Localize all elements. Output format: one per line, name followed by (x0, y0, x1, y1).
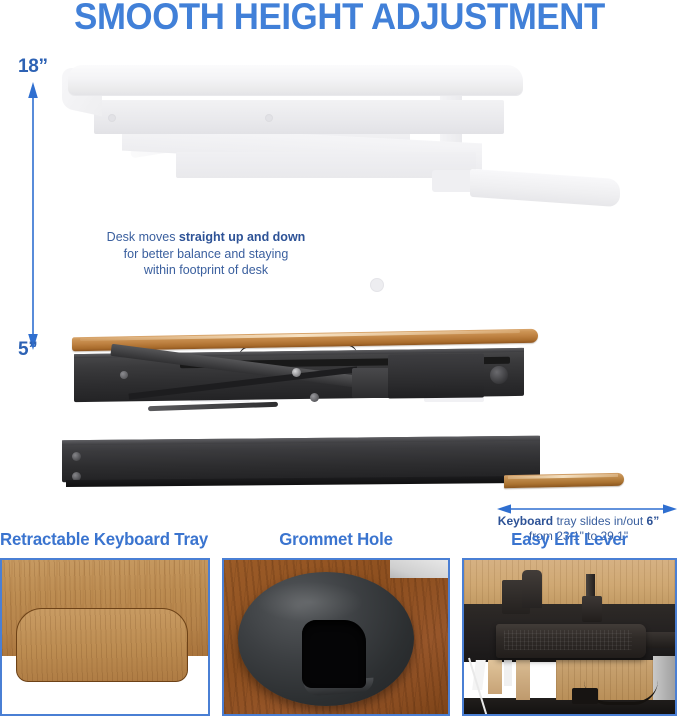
feature-title: Easy Lift Lever (466, 528, 672, 550)
feature-title: Retractable Keyboard Tray (0, 528, 202, 550)
feature-panels: Retractable Keyboard Tray Grommet Hole E… (0, 528, 679, 722)
cable-opening (302, 620, 366, 688)
height-adjustment-illustration: Desk moves straight up and down for bett… (0, 48, 679, 518)
screw (310, 393, 319, 402)
grommet-ring-highlight (258, 582, 362, 622)
feature-title: Grommet Hole (227, 528, 446, 550)
lever-pivot-neck (522, 570, 542, 608)
retractable-tray-outline (16, 608, 188, 682)
feature-panel-lift-lever: Easy Lift Lever (462, 528, 677, 722)
tray-slide-distance: 6” (647, 514, 660, 528)
screw (292, 368, 301, 377)
screw (120, 371, 128, 379)
wood-slat (488, 660, 502, 694)
screw (72, 452, 81, 461)
keyboard-tray-closeup-photo (0, 558, 210, 716)
tray-slide-keyword: Keyboard (498, 514, 553, 528)
gas-spring-rod (148, 402, 278, 412)
desktop-underside-wood (464, 560, 675, 606)
lever-grip-texture (504, 630, 632, 650)
feature-panel-keyboard-tray: Retractable Keyboard Tray (0, 528, 210, 722)
desk-lowered-image (0, 48, 679, 518)
pivot-knob (490, 366, 508, 384)
lever-post-plate (582, 596, 602, 622)
page-title: SMOOTH HEIGHT ADJUSTMENT (20, 0, 658, 36)
wood-slat (516, 660, 530, 700)
lift-mechanism-housing (388, 353, 484, 398)
lift-lever-closeup-photo (462, 558, 677, 716)
background-corner (390, 560, 448, 578)
tray-slide-middle: tray slides in/out (553, 514, 646, 528)
background-gap (504, 660, 512, 686)
grommet-hole-closeup-photo (222, 558, 450, 716)
cable-clip (572, 688, 598, 704)
metal-rail (653, 656, 675, 700)
feature-panel-grommet-hole: Grommet Hole (222, 528, 450, 722)
